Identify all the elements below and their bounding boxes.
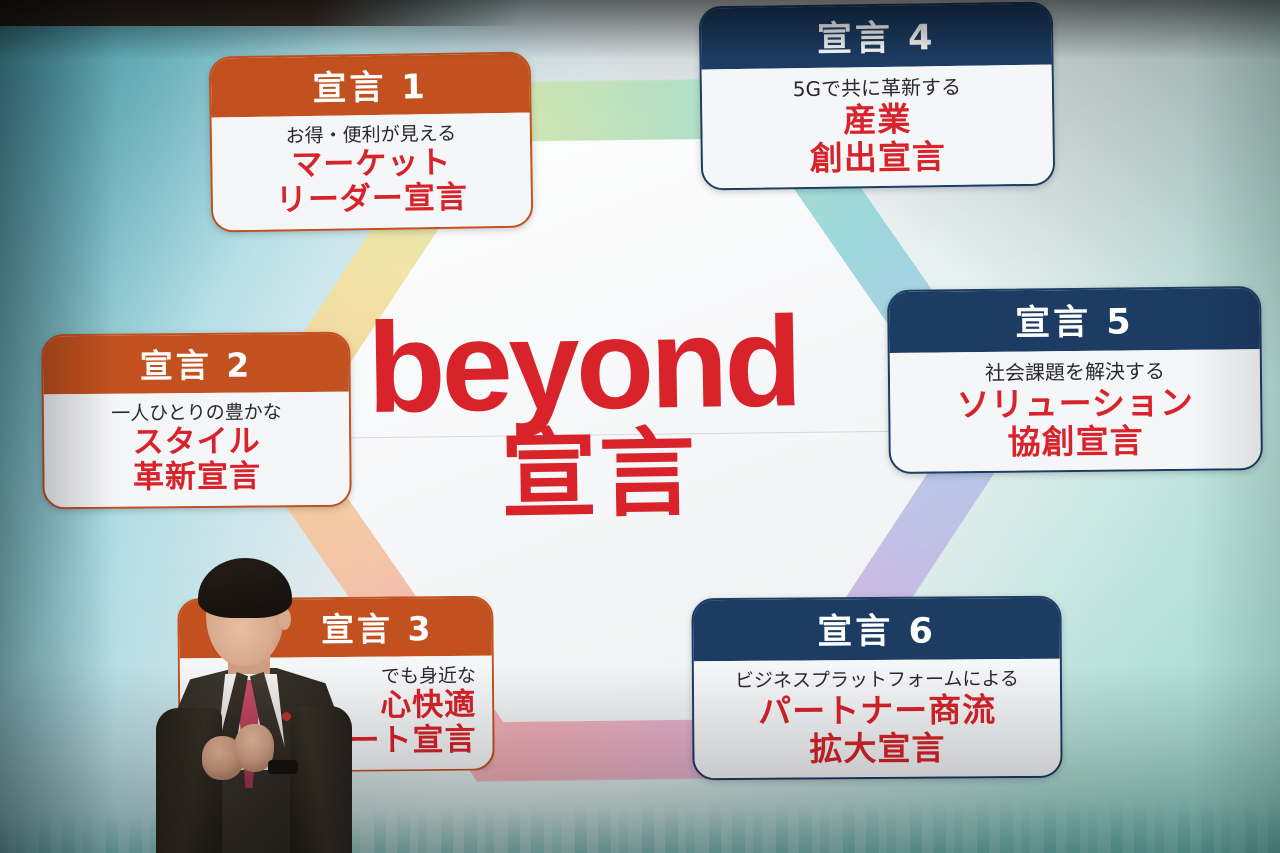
card-4-header: 宣言 4 [701,4,1052,70]
card-1-main-line2: リーダー宣言 [219,180,526,220]
card-2-body: 一人ひとりの豊かな スタイル 革新宣言 [44,392,350,507]
declaration-card-4[interactable]: 宣言 4 5Gで共に革新する 産業 創出宣言 [699,2,1056,191]
card-4-body: 5Gで共に革新する 産業 創出宣言 [702,65,1054,189]
declaration-card-6[interactable]: 宣言 6 ビジネスプラットフォームによる パートナー商流 拡大宣言 [691,596,1062,781]
speaker-wristwatch [268,760,298,774]
speaker-arm-left [156,708,222,853]
card-4-subtitle: 5Gで共に革新する [708,70,1046,104]
card-1-main-line1: マーケット [218,145,525,185]
speaker-lapel-pin [282,712,291,721]
card-1-header: 宣言 1 [211,54,530,118]
beyond-logo: beyond 宣言 [358,302,881,526]
card-4-main-line1: 産業 [708,99,1046,141]
card-4-main-line2: 創出宣言 [709,136,1047,178]
card-6-body: ビジネスプラットフォームによる パートナー商流 拡大宣言 [694,659,1061,779]
card-5-header: 宣言 5 [889,288,1260,353]
card-2-header: 宣言 2 [43,334,348,395]
card-2-subtitle: 一人ひとりの豊かな [50,397,343,427]
declaration-card-5[interactable]: 宣言 5 社会課題を解決する ソリューション 協創宣言 [887,286,1263,474]
card-5-body: 社会課題を解決する ソリューション 協創宣言 [890,349,1261,472]
declaration-card-2[interactable]: 宣言 2 一人ひとりの豊かな スタイル 革新宣言 [41,332,352,509]
presentation-stage: beyond 宣言 宣言 1 お得・便利が見える マーケット リーダー宣言 宣言… [0,0,1280,853]
card-5-subtitle: 社会課題を解決する [896,354,1254,387]
card-1-body: お得・便利が見える マーケット リーダー宣言 [212,113,532,231]
card-6-main-line1: パートナー商流 [700,691,1054,731]
speaker-person [150,548,400,853]
card-2-main-line2: 革新宣言 [50,459,343,497]
card-5-main-line2: 協創宣言 [896,421,1254,462]
card-5-main-line1: ソリューション [896,383,1254,424]
card-6-main-line2: 拡大宣言 [700,728,1054,768]
declaration-card-1[interactable]: 宣言 1 お得・便利が見える マーケット リーダー宣言 [209,51,534,232]
card-2-main-line1: スタイル [50,424,343,462]
card-6-header: 宣言 6 [693,598,1059,662]
speaker-arm-right [290,706,352,853]
speaker-hair [198,558,292,618]
beyond-wordmark: beyond [358,302,880,428]
stage-top-shadow [0,0,520,26]
card-6-subtitle: ビジネスプラットフォームによる [700,664,1054,693]
